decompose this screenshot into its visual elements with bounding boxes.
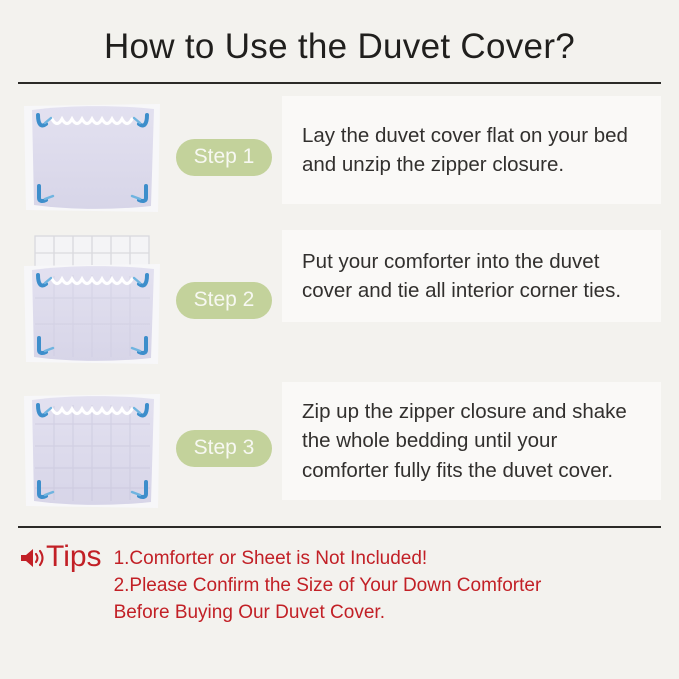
step-badge-cell: Step 2 [166, 282, 282, 319]
step-text: Lay the duvet cover flat on your bed and… [302, 121, 641, 179]
step-text-card: Lay the duvet cover flat on your bed and… [282, 96, 661, 204]
tips-line: Before Buying Our Duvet Cover. [114, 600, 542, 627]
infographic-page: How to Use the Duvet Cover? [0, 0, 679, 679]
tips-section: Tips 1.Comforter or Sheet is Not Include… [0, 528, 679, 627]
step-badge-cell: Step 1 [166, 139, 282, 176]
tips-label: Tips [46, 542, 102, 572]
tips-lines: 1.Comforter or Sheet is Not Included! 2.… [114, 540, 542, 627]
step-text: Zip up the zipper closure and shake the … [302, 397, 641, 484]
step-badge-cell: Step 3 [166, 430, 282, 467]
step-row: Step 3 Zip up the zipper closure and sha… [0, 382, 679, 514]
header: How to Use the Duvet Cover? [0, 0, 679, 68]
step-text-card: Put your comforter into the duvet cover … [282, 230, 661, 322]
page-title: How to Use the Duvet Cover? [18, 26, 661, 68]
divider-top [18, 82, 661, 84]
speaker-announcement-icon [18, 546, 44, 575]
step-text-card: Zip up the zipper closure and shake the … [282, 382, 661, 500]
tips-line: 2.Please Confirm the Size of Your Down C… [114, 573, 542, 600]
step-text: Put your comforter into the duvet cover … [302, 247, 641, 305]
step-row: Step 1 Lay the duvet cover flat on your … [0, 96, 679, 218]
step-row: Step 2 Put your comforter into the duvet… [0, 230, 679, 370]
steps-list: Step 1 Lay the duvet cover flat on your … [0, 96, 679, 514]
duvet-cover-zipped-illustration [18, 382, 166, 514]
duvet-cover-flat-open-illustration [18, 96, 166, 218]
step-badge: Step 1 [176, 139, 273, 176]
step-badge: Step 2 [176, 282, 273, 319]
step-badge: Step 3 [176, 430, 273, 467]
tips-line: 1.Comforter or Sheet is Not Included! [114, 546, 542, 573]
comforter-inserted-illustration [18, 230, 166, 370]
